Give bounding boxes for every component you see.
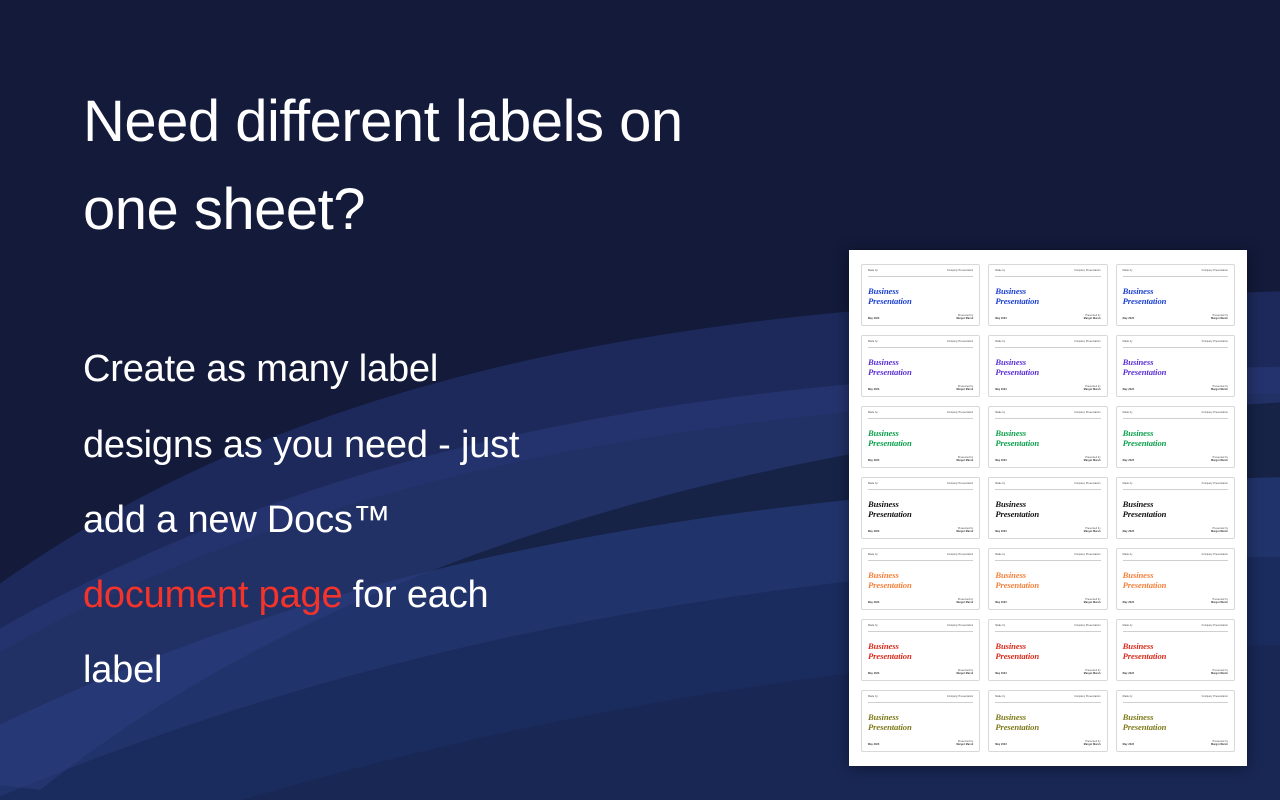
- label-card-footer: May 2023Presented byMargot Marsh: [868, 386, 973, 392]
- label-card-header: Made byCompany Presentation: [1123, 554, 1228, 561]
- label-card-title-line-1: Business: [1123, 357, 1228, 367]
- label-card-header-left: Made by: [1123, 483, 1133, 486]
- label-card-title-line-1: Business: [868, 570, 973, 580]
- label-card-footer: May 2023Presented byMargot Marsh: [1123, 386, 1228, 392]
- label-card-footer-date: May 2023: [868, 602, 879, 605]
- label-card-title: BusinessPresentation: [868, 712, 973, 732]
- label-card-header: Made byCompany Presentation: [1123, 483, 1228, 490]
- label-card-title: BusinessPresentation: [1123, 428, 1228, 448]
- label-card-header: Made byCompany Presentation: [868, 270, 973, 277]
- label-card-title-line-1: Business: [868, 641, 973, 651]
- label-card-title-line-2: Presentation: [995, 580, 1100, 590]
- label-card-footer-credit: Presented byMargot Marsh: [1084, 386, 1101, 392]
- label-card-header: Made byCompany Presentation: [868, 554, 973, 561]
- label-card-footer: May 2023Presented byMargot Marsh: [995, 457, 1100, 463]
- label-card-title: BusinessPresentation: [868, 499, 973, 519]
- label-card-footer-credit: Presented byMargot Marsh: [1084, 315, 1101, 321]
- label-card-footer: May 2023Presented byMargot Marsh: [1123, 599, 1228, 605]
- label-card-footer-credit-name: Margot Marsh: [1211, 744, 1228, 747]
- label-card-footer-credit-name: Margot Marsh: [1211, 602, 1228, 605]
- label-card-header-left: Made by: [995, 341, 1005, 344]
- label-card-title-line-2: Presentation: [1123, 580, 1228, 590]
- accent-text-document-page: document page: [83, 574, 342, 616]
- label-card-title-line-2: Presentation: [868, 367, 973, 377]
- label-card-footer-credit-name: Margot Marsh: [1084, 673, 1101, 676]
- slide-canvas: Need different labels on one sheet? Crea…: [0, 0, 1280, 800]
- label-card-header-right: Company Presentation: [947, 696, 973, 699]
- label-card-footer-credit-name: Margot Marsh: [956, 673, 973, 676]
- label-card-title-line-2: Presentation: [1123, 296, 1228, 306]
- label-card-header-right: Company Presentation: [1074, 341, 1100, 344]
- label-card-title-line-2: Presentation: [995, 722, 1100, 732]
- label-card-title-line-1: Business: [995, 357, 1100, 367]
- label-card-footer-credit-name: Margot Marsh: [1211, 460, 1228, 463]
- label-card-title-line-2: Presentation: [868, 651, 973, 661]
- label-card-footer-credit-name: Margot Marsh: [956, 744, 973, 747]
- label-card-footer-credit-name: Margot Marsh: [1084, 389, 1101, 392]
- label-grid: Made byCompany PresentationBusinessPrese…: [861, 264, 1235, 752]
- label-card-footer-credit: Presented byMargot Marsh: [956, 315, 973, 321]
- label-card-title-line-1: Business: [1123, 570, 1228, 580]
- label-card-title: BusinessPresentation: [995, 428, 1100, 448]
- label-card-footer: May 2023Presented byMargot Marsh: [868, 741, 973, 747]
- label-card-violet-3[interactable]: Made byCompany PresentationBusinessPrese…: [1116, 335, 1235, 397]
- label-card-footer-credit: Presented byMargot Marsh: [956, 528, 973, 534]
- label-card-header-left: Made by: [995, 554, 1005, 557]
- label-card-footer-credit: Presented byMargot Marsh: [1211, 741, 1228, 747]
- label-card-header-left: Made by: [868, 625, 878, 628]
- label-card-footer-credit: Presented byMargot Marsh: [1211, 528, 1228, 534]
- label-card-footer-date: May 2023: [995, 673, 1006, 676]
- label-card-title: BusinessPresentation: [1123, 286, 1228, 306]
- label-card-title-line-1: Business: [995, 428, 1100, 438]
- label-card-header: Made byCompany Presentation: [868, 341, 973, 348]
- label-card-footer-credit: Presented byMargot Marsh: [1084, 741, 1101, 747]
- label-card-blue-3[interactable]: Made byCompany PresentationBusinessPrese…: [1116, 264, 1235, 326]
- label-card-title: BusinessPresentation: [868, 570, 973, 590]
- label-card-header-left: Made by: [995, 270, 1005, 273]
- label-card-title-line-2: Presentation: [868, 296, 973, 306]
- label-card-footer-date: May 2023: [1123, 318, 1134, 321]
- label-card-header-left: Made by: [868, 483, 878, 486]
- label-card-header-left: Made by: [1123, 412, 1133, 415]
- label-card-footer-credit-name: Margot Marsh: [956, 602, 973, 605]
- label-card-title-line-2: Presentation: [868, 580, 973, 590]
- label-card-footer: May 2023Presented byMargot Marsh: [1123, 528, 1228, 534]
- label-card-header-right: Company Presentation: [1074, 625, 1100, 628]
- label-card-title-line-2: Presentation: [868, 722, 973, 732]
- label-card-black-1[interactable]: Made byCompany PresentationBusinessPrese…: [861, 477, 980, 539]
- label-card-header-right: Company Presentation: [947, 412, 973, 415]
- label-card-title-line-1: Business: [995, 641, 1100, 651]
- body-line-4: document page for each: [83, 558, 783, 633]
- label-card-header-left: Made by: [995, 696, 1005, 699]
- label-card-footer-date: May 2023: [995, 531, 1006, 534]
- label-card-title-line-1: Business: [995, 286, 1100, 296]
- label-card-header-right: Company Presentation: [947, 270, 973, 273]
- label-card-header: Made byCompany Presentation: [995, 341, 1100, 348]
- label-card-header-right: Company Presentation: [947, 554, 973, 557]
- label-card-header-right: Company Presentation: [1202, 412, 1228, 415]
- label-card-title-line-2: Presentation: [1123, 651, 1228, 661]
- label-card-footer-date: May 2023: [1123, 602, 1134, 605]
- label-card-title-line-2: Presentation: [995, 438, 1100, 448]
- label-card-footer: May 2023Presented byMargot Marsh: [995, 599, 1100, 605]
- label-card-footer: May 2023Presented byMargot Marsh: [995, 315, 1100, 321]
- label-card-footer-credit: Presented byMargot Marsh: [1211, 315, 1228, 321]
- label-card-title: BusinessPresentation: [995, 499, 1100, 519]
- label-card-title: BusinessPresentation: [1123, 641, 1228, 661]
- label-card-header: Made byCompany Presentation: [1123, 696, 1228, 703]
- label-card-title: BusinessPresentation: [1123, 357, 1228, 377]
- label-card-green-1[interactable]: Made byCompany PresentationBusinessPrese…: [861, 406, 980, 468]
- label-card-footer-credit-name: Margot Marsh: [956, 531, 973, 534]
- label-card-title-line-1: Business: [995, 570, 1100, 580]
- label-card-header-right: Company Presentation: [1202, 554, 1228, 557]
- label-card-olive-2[interactable]: Made byCompany PresentationBusinessPrese…: [988, 690, 1107, 752]
- label-card-footer: May 2023Presented byMargot Marsh: [995, 386, 1100, 392]
- label-card-header-right: Company Presentation: [1074, 696, 1100, 699]
- label-card-footer: May 2023Presented byMargot Marsh: [868, 670, 973, 676]
- label-card-footer-date: May 2023: [1123, 673, 1134, 676]
- label-card-header: Made byCompany Presentation: [995, 270, 1100, 277]
- label-card-header-left: Made by: [1123, 625, 1133, 628]
- label-card-header-left: Made by: [995, 625, 1005, 628]
- label-card-footer: May 2023Presented byMargot Marsh: [995, 741, 1100, 747]
- label-card-header: Made byCompany Presentation: [1123, 341, 1228, 348]
- label-card-footer-credit: Presented byMargot Marsh: [1211, 386, 1228, 392]
- label-card-footer: May 2023Presented byMargot Marsh: [1123, 741, 1228, 747]
- label-card-header-right: Company Presentation: [1074, 412, 1100, 415]
- label-card-footer-credit-name: Margot Marsh: [1211, 389, 1228, 392]
- label-card-header-right: Company Presentation: [1202, 341, 1228, 344]
- label-card-header: Made byCompany Presentation: [995, 412, 1100, 419]
- label-card-title-line-2: Presentation: [1123, 509, 1228, 519]
- label-card-black-2[interactable]: Made byCompany PresentationBusinessPrese…: [988, 477, 1107, 539]
- label-card-olive-3[interactable]: Made byCompany PresentationBusinessPrese…: [1116, 690, 1235, 752]
- label-card-header-right: Company Presentation: [1202, 696, 1228, 699]
- label-card-footer-credit-name: Margot Marsh: [1084, 531, 1101, 534]
- label-card-header-right: Company Presentation: [947, 625, 973, 628]
- label-card-title: BusinessPresentation: [995, 286, 1100, 306]
- label-card-header: Made byCompany Presentation: [995, 483, 1100, 490]
- body-line-1: Create as many label: [83, 332, 783, 407]
- label-card-title-line-1: Business: [868, 428, 973, 438]
- label-card-footer-credit: Presented byMargot Marsh: [1084, 528, 1101, 534]
- label-card-header-right: Company Presentation: [1074, 554, 1100, 557]
- label-card-orange-1[interactable]: Made byCompany PresentationBusinessPrese…: [861, 548, 980, 610]
- label-card-footer-date: May 2023: [995, 389, 1006, 392]
- body-line-5: label: [83, 633, 783, 708]
- label-card-title-line-1: Business: [995, 499, 1100, 509]
- label-card-title: BusinessPresentation: [1123, 570, 1228, 590]
- label-card-title: BusinessPresentation: [1123, 499, 1228, 519]
- label-card-header-right: Company Presentation: [1202, 270, 1228, 273]
- label-card-header-left: Made by: [1123, 341, 1133, 344]
- label-card-footer: May 2023Presented byMargot Marsh: [1123, 457, 1228, 463]
- label-card-title-line-2: Presentation: [1123, 367, 1228, 377]
- label-card-footer-date: May 2023: [1123, 744, 1134, 747]
- body-line-2: designs as you need - just: [83, 408, 783, 483]
- label-card-header: Made byCompany Presentation: [995, 554, 1100, 561]
- label-card-green-3[interactable]: Made byCompany PresentationBusinessPrese…: [1116, 406, 1235, 468]
- label-card-title-line-2: Presentation: [1123, 722, 1228, 732]
- label-card-header-right: Company Presentation: [947, 483, 973, 486]
- label-card-footer-credit-name: Margot Marsh: [1084, 602, 1101, 605]
- label-card-title-line-2: Presentation: [995, 509, 1100, 519]
- label-card-header-right: Company Presentation: [1074, 270, 1100, 273]
- label-card-header-left: Made by: [868, 270, 878, 273]
- label-card-footer-date: May 2023: [995, 318, 1006, 321]
- label-card-header-left: Made by: [1123, 270, 1133, 273]
- label-card-header: Made byCompany Presentation: [868, 483, 973, 490]
- label-card-footer-credit-name: Margot Marsh: [956, 389, 973, 392]
- label-card-title-line-1: Business: [868, 499, 973, 509]
- label-card-footer-credit: Presented byMargot Marsh: [956, 599, 973, 605]
- text-column: Need different labels on one sheet? Crea…: [83, 78, 783, 708]
- label-card-footer-credit: Presented byMargot Marsh: [956, 457, 973, 463]
- label-card-olive-1[interactable]: Made byCompany PresentationBusinessPrese…: [861, 690, 980, 752]
- label-card-header: Made byCompany Presentation: [1123, 270, 1228, 277]
- label-card-orange-3[interactable]: Made byCompany PresentationBusinessPrese…: [1116, 548, 1235, 610]
- label-card-header: Made byCompany Presentation: [995, 696, 1100, 703]
- label-card-header-right: Company Presentation: [1202, 483, 1228, 486]
- label-card-red-3[interactable]: Made byCompany PresentationBusinessPrese…: [1116, 619, 1235, 681]
- label-card-footer-credit: Presented byMargot Marsh: [1211, 670, 1228, 676]
- label-card-blue-2[interactable]: Made byCompany PresentationBusinessPrese…: [988, 264, 1107, 326]
- label-card-footer-credit-name: Margot Marsh: [1084, 744, 1101, 747]
- label-card-title: BusinessPresentation: [995, 712, 1100, 732]
- label-card-header: Made byCompany Presentation: [868, 625, 973, 632]
- label-card-footer-date: May 2023: [868, 531, 879, 534]
- label-card-footer-credit: Presented byMargot Marsh: [1084, 457, 1101, 463]
- label-card-header-right: Company Presentation: [1202, 625, 1228, 628]
- label-card-title-line-1: Business: [868, 286, 973, 296]
- label-card-footer: May 2023Presented byMargot Marsh: [868, 457, 973, 463]
- label-card-title-line-2: Presentation: [1123, 438, 1228, 448]
- label-card-footer-credit-name: Margot Marsh: [1211, 531, 1228, 534]
- label-card-title-line-1: Business: [868, 712, 973, 722]
- label-card-title-line-1: Business: [1123, 641, 1228, 651]
- label-card-footer: May 2023Presented byMargot Marsh: [995, 670, 1100, 676]
- label-card-header-left: Made by: [995, 483, 1005, 486]
- label-card-footer: May 2023Presented byMargot Marsh: [868, 599, 973, 605]
- label-card-footer: May 2023Presented byMargot Marsh: [868, 315, 973, 321]
- label-card-blue-1[interactable]: Made byCompany PresentationBusinessPrese…: [861, 264, 980, 326]
- label-card-footer-credit-name: Margot Marsh: [956, 460, 973, 463]
- label-card-footer-date: May 2023: [868, 744, 879, 747]
- label-card-title: BusinessPresentation: [995, 570, 1100, 590]
- label-card-footer-credit-name: Margot Marsh: [1084, 318, 1101, 321]
- label-card-title-line-1: Business: [1123, 286, 1228, 296]
- label-card-footer-date: May 2023: [868, 460, 879, 463]
- label-card-footer: May 2023Presented byMargot Marsh: [1123, 315, 1228, 321]
- label-card-footer-date: May 2023: [1123, 460, 1134, 463]
- label-card-title-line-2: Presentation: [995, 367, 1100, 377]
- label-card-black-3[interactable]: Made byCompany PresentationBusinessPrese…: [1116, 477, 1235, 539]
- label-card-footer-date: May 2023: [1123, 389, 1134, 392]
- label-card-footer: May 2023Presented byMargot Marsh: [868, 528, 973, 534]
- label-card-footer-credit-name: Margot Marsh: [1084, 460, 1101, 463]
- label-card-violet-1[interactable]: Made byCompany PresentationBusinessPrese…: [861, 335, 980, 397]
- label-card-title-line-1: Business: [868, 357, 973, 367]
- label-card-title: BusinessPresentation: [868, 357, 973, 377]
- label-card-title-line-2: Presentation: [868, 438, 973, 448]
- label-card-red-1[interactable]: Made byCompany PresentationBusinessPrese…: [861, 619, 980, 681]
- label-card-header: Made byCompany Presentation: [1123, 625, 1228, 632]
- label-card-footer-credit-name: Margot Marsh: [1211, 673, 1228, 676]
- label-card-title-line-2: Presentation: [995, 651, 1100, 661]
- body-paragraph: Create as many label designs as you need…: [83, 332, 783, 708]
- label-card-title: BusinessPresentation: [1123, 712, 1228, 732]
- label-card-header-right: Company Presentation: [1074, 483, 1100, 486]
- label-card-red-2[interactable]: Made byCompany PresentationBusinessPrese…: [988, 619, 1107, 681]
- label-card-footer-credit: Presented byMargot Marsh: [1211, 457, 1228, 463]
- label-card-footer-credit: Presented byMargot Marsh: [956, 386, 973, 392]
- page-title: Need different labels on one sheet?: [83, 78, 783, 254]
- label-card-header-left: Made by: [868, 341, 878, 344]
- label-card-footer-date: May 2023: [995, 460, 1006, 463]
- label-card-footer-credit: Presented byMargot Marsh: [1211, 599, 1228, 605]
- label-card-footer-credit: Presented byMargot Marsh: [1084, 599, 1101, 605]
- label-card-header-left: Made by: [995, 412, 1005, 415]
- label-card-title: BusinessPresentation: [868, 428, 973, 448]
- label-card-header: Made byCompany Presentation: [868, 412, 973, 419]
- label-card-header-left: Made by: [868, 696, 878, 699]
- label-card-footer-date: May 2023: [868, 389, 879, 392]
- label-card-footer-credit: Presented byMargot Marsh: [956, 670, 973, 676]
- label-card-header-right: Company Presentation: [947, 341, 973, 344]
- label-card-footer-date: May 2023: [868, 673, 879, 676]
- label-card-title-line-2: Presentation: [995, 296, 1100, 306]
- label-card-title: BusinessPresentation: [995, 357, 1100, 377]
- label-card-title-line-1: Business: [1123, 428, 1228, 438]
- label-card-footer-credit-name: Margot Marsh: [1211, 318, 1228, 321]
- label-card-footer: May 2023Presented byMargot Marsh: [995, 528, 1100, 534]
- label-card-header: Made byCompany Presentation: [1123, 412, 1228, 419]
- label-card-title: BusinessPresentation: [868, 641, 973, 661]
- body-line-4-rest: for each: [342, 574, 488, 616]
- label-card-header-left: Made by: [1123, 696, 1133, 699]
- label-sheet-preview[interactable]: Made byCompany PresentationBusinessPrese…: [849, 250, 1247, 766]
- label-card-violet-2[interactable]: Made byCompany PresentationBusinessPrese…: [988, 335, 1107, 397]
- label-card-footer-credit-name: Margot Marsh: [956, 318, 973, 321]
- label-card-footer-date: May 2023: [868, 318, 879, 321]
- label-card-footer-date: May 2023: [995, 602, 1006, 605]
- label-card-header-left: Made by: [868, 554, 878, 557]
- label-card-title-line-1: Business: [995, 712, 1100, 722]
- label-card-orange-2[interactable]: Made byCompany PresentationBusinessPrese…: [988, 548, 1107, 610]
- label-card-title-line-1: Business: [1123, 712, 1228, 722]
- label-card-title-line-2: Presentation: [868, 509, 973, 519]
- label-card-footer-credit: Presented byMargot Marsh: [1084, 670, 1101, 676]
- label-card-title: BusinessPresentation: [868, 286, 973, 306]
- label-card-footer-credit: Presented byMargot Marsh: [956, 741, 973, 747]
- label-card-header: Made byCompany Presentation: [995, 625, 1100, 632]
- label-card-header: Made byCompany Presentation: [868, 696, 973, 703]
- label-card-green-2[interactable]: Made byCompany PresentationBusinessPrese…: [988, 406, 1107, 468]
- label-card-footer: May 2023Presented byMargot Marsh: [1123, 670, 1228, 676]
- label-card-footer-date: May 2023: [1123, 531, 1134, 534]
- label-card-title: BusinessPresentation: [995, 641, 1100, 661]
- label-card-header-left: Made by: [868, 412, 878, 415]
- label-card-title-line-1: Business: [1123, 499, 1228, 509]
- label-card-header-left: Made by: [1123, 554, 1133, 557]
- label-card-footer-date: May 2023: [995, 744, 1006, 747]
- body-line-3: add a new Docs™: [83, 483, 783, 558]
